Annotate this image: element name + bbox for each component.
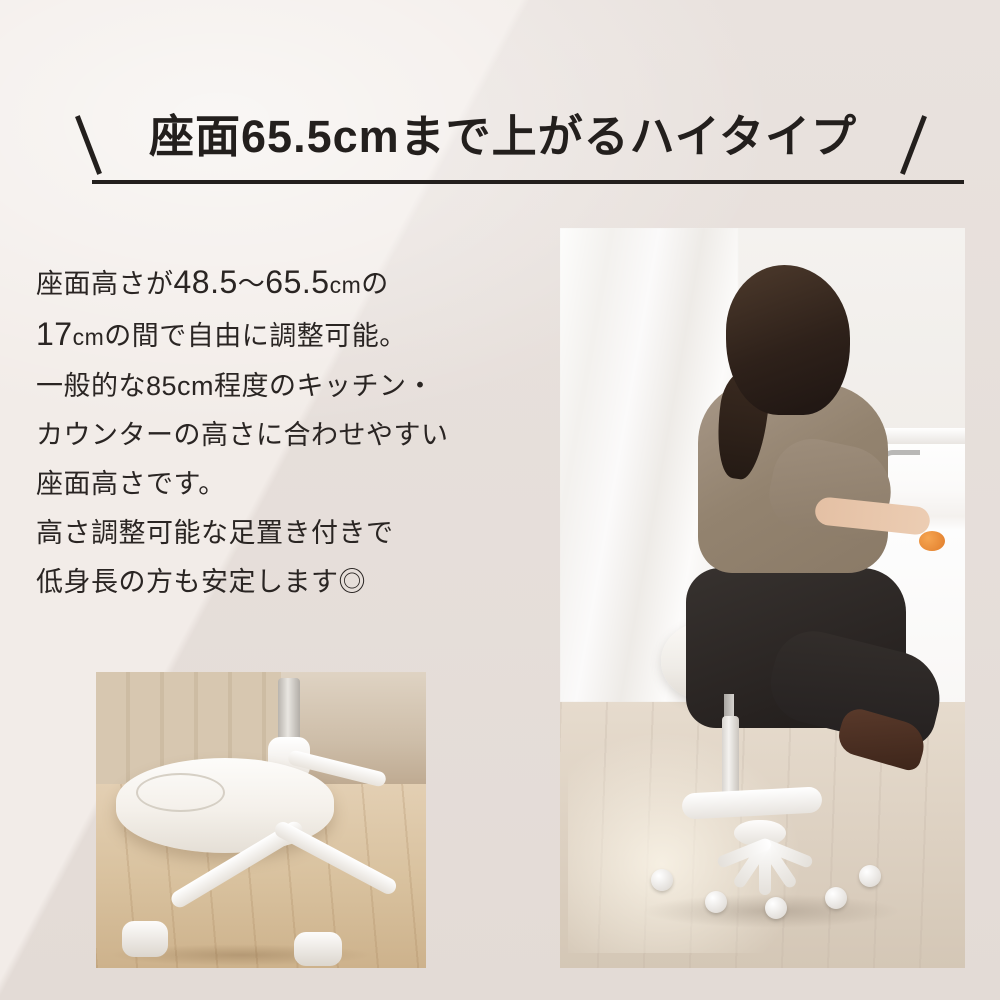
person-head: [726, 265, 850, 415]
adjust-range-value: 17: [36, 316, 73, 352]
inset-photo-scene: [96, 672, 426, 968]
caster-wheel: [651, 869, 673, 891]
caster-wheel: [825, 887, 847, 909]
stool-base: [653, 835, 883, 909]
inset-product-photo: [96, 672, 426, 968]
headline-right-slash-icon: [900, 115, 927, 175]
copy-line-6: 高さ調整可能な足置き付きで: [36, 509, 536, 558]
copy-line-3: 一般的な85cm程度のキッチン・: [36, 362, 536, 411]
inset-caster-wheel: [122, 921, 168, 957]
headline-left-slash-icon: [75, 115, 102, 175]
caster-wheel: [765, 897, 787, 919]
copy-line-2: 17cmの間で自由に調整可能。: [36, 310, 536, 362]
stool-post: [722, 716, 739, 796]
adjust-range-unit: cm: [73, 324, 105, 350]
seat-height-max: 65.5: [265, 264, 329, 300]
caster-wheel: [705, 891, 727, 913]
copy-line-5: 座面高さです。: [36, 460, 536, 509]
headline-block: 座面65.5cmまで上がるハイタイプ: [40, 106, 960, 198]
copy-line-7: 低身長の方も安定します◎: [36, 558, 536, 607]
seat-height-unit: cm: [330, 272, 362, 298]
product-feature-banner: 座面65.5cmまで上がるハイタイプ 座面高さが48.5〜65.5cmの 17c…: [0, 0, 1000, 1000]
caster-wheel: [859, 865, 881, 887]
headline-text: 座面65.5cmまで上がるハイタイプ: [118, 112, 888, 162]
copy-line-1: 座面高さが48.5〜65.5cmの: [36, 258, 536, 310]
main-photo-scene: [560, 228, 965, 968]
copy-line-1-suffix: の: [361, 269, 389, 299]
inset-seat-emboss: [136, 773, 226, 813]
inset-caster-wheel: [294, 932, 342, 966]
headline-underline: [92, 180, 964, 184]
copy-line-2-suffix: の間で自由に調整可能。: [104, 321, 407, 351]
body-copy: 座面高さが48.5〜65.5cmの 17cmの間で自由に調整可能。 一般的な85…: [36, 258, 536, 607]
copy-line-4: カウンターの高さに合わせやすい: [36, 411, 536, 460]
range-dash: 〜: [238, 269, 266, 299]
seat-height-min: 48.5: [174, 264, 238, 300]
copy-line-1-prefix: 座面高さが: [36, 269, 174, 299]
main-product-photo: [560, 228, 965, 968]
